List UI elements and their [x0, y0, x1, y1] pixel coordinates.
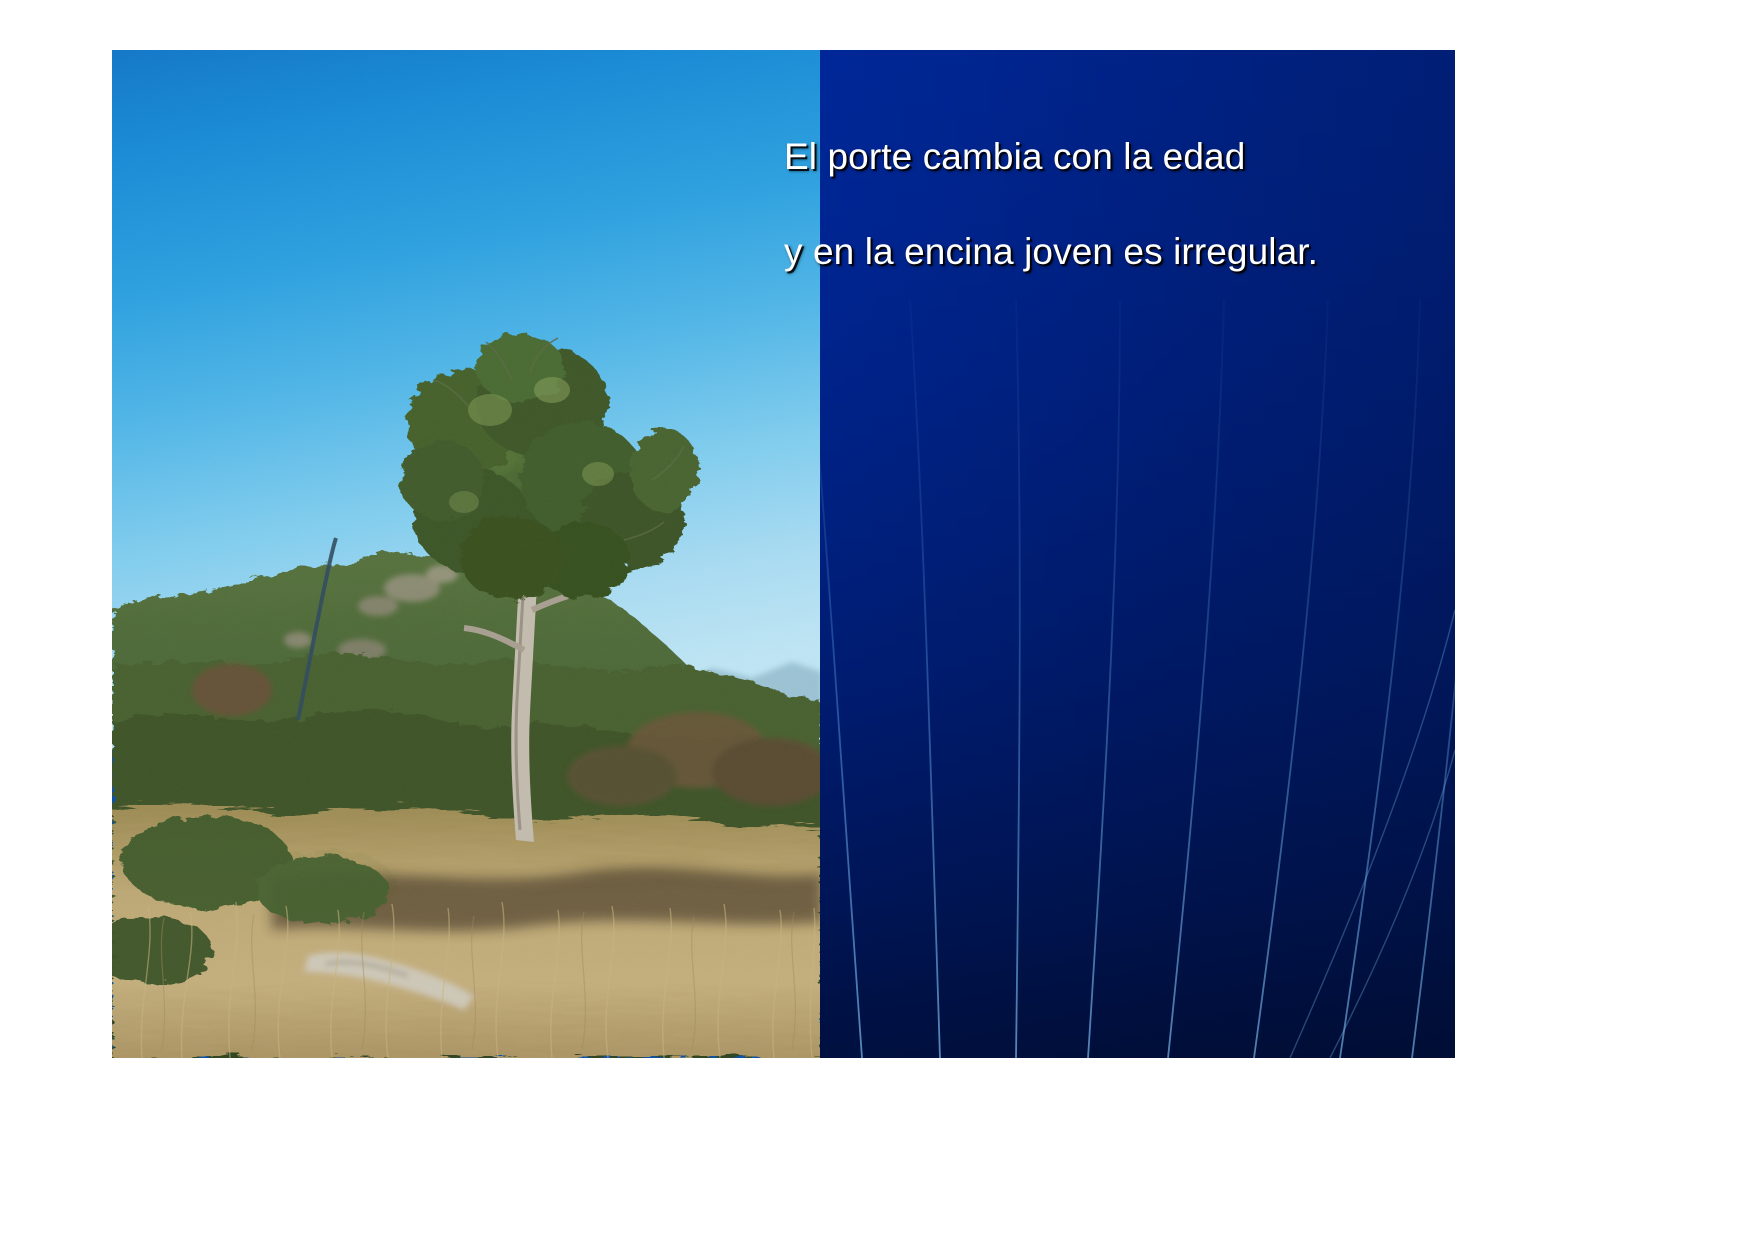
caption-text-block: El porte cambia con la edad y en la enci… [784, 86, 1444, 323]
photo-artwork [112, 50, 822, 1058]
slide-canvas: El porte cambia con la edad y en la enci… [112, 50, 1455, 1058]
latitude-lines [820, 317, 1455, 1018]
caption-line-2: y en la encina joven es irregular. [784, 228, 1444, 275]
caption-line-1: El porte cambia con la edad [784, 133, 1444, 180]
photo-encina-joven [112, 50, 822, 1058]
meridian-lines [820, 300, 1455, 1058]
